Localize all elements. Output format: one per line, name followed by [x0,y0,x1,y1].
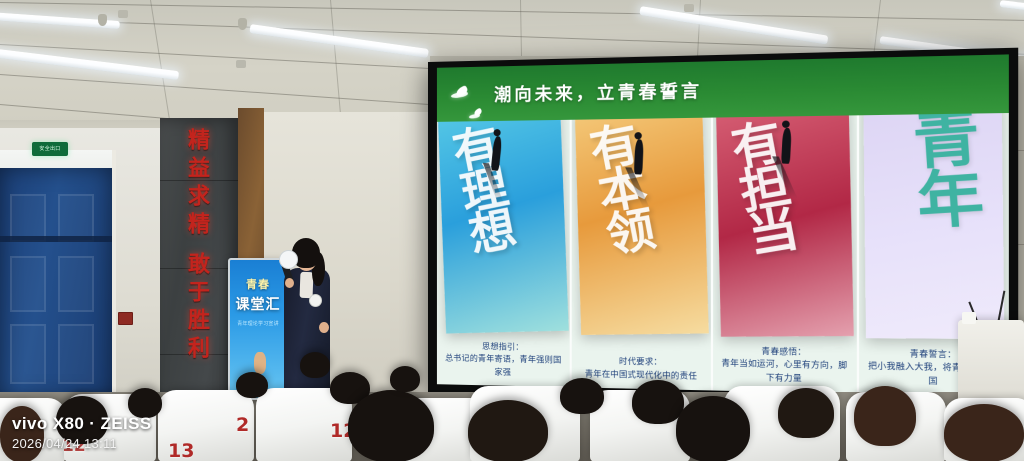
panel-card: 青年 [863,113,1004,340]
exit-sign-label: 安全出口 [39,147,60,152]
exit-door[interactable] [0,168,116,398]
dove-icon [469,109,484,119]
door-push-bar[interactable] [0,236,112,242]
door-panel [10,324,46,384]
watermark-brand: vivo X80 · ZEISS [12,414,152,434]
slide-panel: 有担当 青春感悟： 青年当如运河，心里有方向，脚下有力量 [710,115,856,394]
audience-head [348,390,434,461]
microphone-flag [279,250,298,269]
panel-card: 有担当 [716,115,854,337]
slide-header: 潮向未来，立青春誓言 [437,54,1009,121]
slide-panels: 有理想 思想指引： 总书记的青年寄语，青年强则国家强 有本领 时代要求： [437,113,1009,398]
audience-head [390,366,420,392]
panel-card: 有理想 [438,120,569,335]
sprinkler-head [238,18,247,30]
speaker-hand [319,322,329,333]
slide-surface: 潮向未来，立青春誓言 有理想 思想指引： 总书记的青年寄语，青年强则国家强 有本 [437,54,1009,397]
audience-head [632,380,684,424]
panel-headline: 有理想 [438,120,526,257]
speaker-badge [309,294,322,307]
panel-headline: 青年 [890,113,994,231]
chair-number: 13 [168,440,194,461]
banner-line-3: 青年理论学习宣讲 [234,320,282,327]
slide-panel: 有本领 时代要求： 青年在中国式现代化中的责任 [570,117,710,390]
audience-head [300,352,330,378]
watermark-datetime: 2026/04/24 13:11 [12,436,152,451]
door-panel [10,194,46,242]
light-fitting [236,60,246,68]
speaker-hand [285,278,294,288]
door-panel [10,256,46,312]
banner-line-2: 课堂汇 [234,294,282,314]
door-panel [58,324,94,384]
wall-slogan-top: 精益求精 [180,128,212,240]
audience-head [236,372,268,398]
door-panel [58,256,94,312]
panel-headline: 有本领 [574,117,664,256]
audience-head [778,388,834,438]
audience-head [560,378,604,414]
podium-device [962,312,976,324]
caption-body: 青年当如运河，心里有方向，脚下有力量 [719,357,850,386]
dove-icon [451,87,473,101]
caption-body: 总书记的青年寄语，青年强则国家强 [443,352,564,379]
door-panel [58,194,94,242]
exit-sign: 安全出口 [32,142,68,156]
banner-illustration [254,352,266,374]
slide-title: 潮向未来，立青春誓言 [494,77,702,107]
audience-head [468,400,548,461]
projection-screen: 潮向未来，立青春誓言 有理想 思想指引： 总书记的青年寄语，青年强则国家强 有本 [428,48,1018,409]
panel-caption: 思想指引： 总书记的青年寄语，青年强则国家强 [437,340,570,387]
audience-head [944,404,1024,461]
audience-head [854,386,916,446]
sprinkler-head [98,14,107,26]
wall-slogan-bottom: 敢于胜利 [180,252,212,364]
light-fitting [684,4,694,12]
audience-head [676,396,750,461]
panel-headline: 有担当 [716,115,809,257]
banner-line-1: 青春 [236,276,280,292]
fire-alarm-box [118,312,133,325]
slide-panel: 有理想 思想指引： 总书记的青年寄语，青年强则国家强 [437,120,570,388]
camera-watermark: vivo X80 · ZEISS 2026/04/24 13:11 [12,414,152,451]
chair-number: 2 [236,414,249,436]
light-fitting [118,10,128,18]
panel-card: 有本领 [574,117,708,335]
caption-body: 青年在中国式现代化中的责任 [578,368,704,383]
photo-screenshot: 安全出口 精益求精 敢于胜利 潮向未来，立青春誓言 有理想 [0,0,1024,461]
